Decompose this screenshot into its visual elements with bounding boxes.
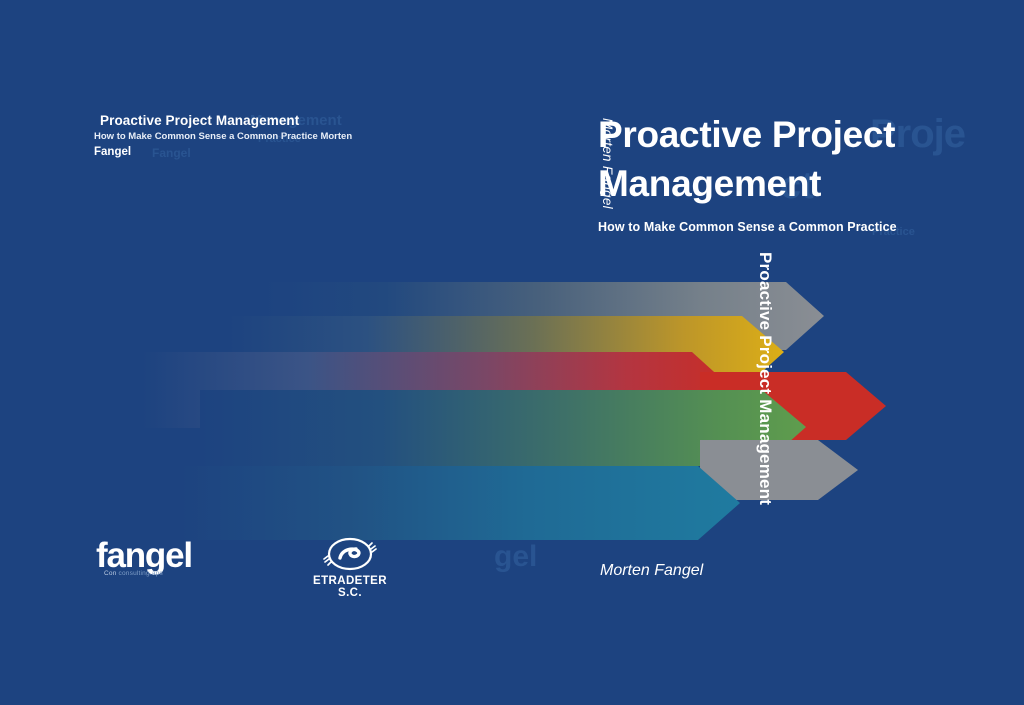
front-cover-title: Proactive Project Management	[598, 110, 998, 208]
spine-author: Morten Fangel	[495, 118, 615, 209]
ghost-text-back-author: Fangel	[152, 146, 191, 160]
ghost-text-logo: gel	[494, 540, 537, 574]
back-cover-subtitle: How to Make Common Sense a Common Practi…	[94, 131, 352, 142]
front-cover-title-line-1: Proactive Project	[598, 110, 998, 159]
fangel-tagline-lead: Con	[104, 570, 117, 577]
fangel-tagline: Con consulting.aps	[104, 570, 163, 577]
back-cover-author: Fangel	[94, 146, 131, 158]
fangel-tagline-rest: consulting.aps	[119, 570, 163, 577]
front-cover-author: Morten Fangel	[600, 562, 703, 580]
swirl-circle-icon	[302, 536, 398, 572]
book-cover: Management Practice Fangel Proje ct Prac…	[0, 0, 1024, 705]
front-cover-subtitle: How to Make Common Sense a Common Practi…	[598, 220, 897, 234]
etradeter-name: ETRADETER S.C.	[302, 575, 398, 599]
fangel-wordmark: fangel	[96, 538, 246, 574]
fangel-logo: fangel Con consulting.aps	[96, 538, 246, 586]
front-cover-title-line-2: Management	[598, 159, 998, 208]
spine-title: Proactive Project Management	[495, 252, 775, 505]
etradeter-logo: ETRADETER S.C.	[302, 536, 398, 599]
back-cover-title: Proactive Project Management	[100, 113, 299, 128]
